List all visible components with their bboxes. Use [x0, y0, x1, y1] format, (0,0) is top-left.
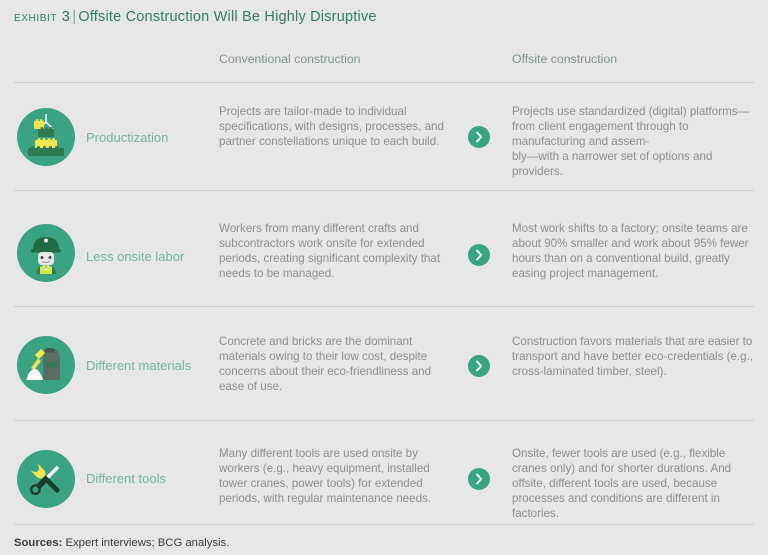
cement-bag-shovel-icon — [17, 336, 75, 394]
sources-note: Sources: Expert interviews; BCG analysis… — [14, 537, 229, 549]
row-label: Productization — [86, 130, 168, 145]
title-headline: Offsite Construction Will Be Highly Disr… — [78, 9, 376, 25]
chevron-right-icon[interactable] — [468, 355, 490, 377]
cell-offsite: Onsite, fewer tools are used (e.g., flex… — [512, 446, 760, 521]
sources-label: Sources: — [14, 537, 62, 549]
cell-conventional: Projects are tailor-made to individual s… — [219, 104, 459, 149]
chevron-right-icon[interactable] — [468, 244, 490, 266]
table-row: Different tools Many different tools are… — [0, 436, 768, 524]
cell-conventional: Concrete and bricks are the dominant mat… — [219, 334, 459, 394]
cell-offsite: Construction favors materials that are e… — [512, 334, 760, 379]
row-label: Less onsite labor — [86, 249, 184, 264]
page-title: Exhibit 3|Offsite Construction Will Be H… — [14, 9, 377, 25]
cell-conventional: Many different tools are used onsite by … — [219, 446, 459, 506]
divider-row-2 — [14, 306, 754, 307]
cell-offsite: Most work shifts to a factory; onsite te… — [512, 221, 760, 281]
column-header-conventional: Conventional construction — [219, 52, 361, 66]
table-row: Different materials Concrete and bricks … — [0, 322, 768, 420]
row-label: Different tools — [86, 471, 166, 486]
column-header-offsite: Offsite construction — [512, 52, 617, 66]
wrench-screwdriver-icon — [17, 450, 75, 508]
divider-top — [14, 82, 754, 83]
chevron-right-icon[interactable] — [468, 126, 490, 148]
divider-row-3 — [14, 420, 754, 421]
chevron-right-icon[interactable] — [468, 468, 490, 490]
exhibit-number: Exhibit 3 — [14, 9, 70, 25]
divider-row-1 — [14, 190, 754, 191]
lego-blocks-crane-icon — [17, 108, 75, 166]
divider-bottom — [14, 524, 754, 525]
cell-offsite: Projects use standardized (digital) plat… — [512, 104, 760, 179]
row-label: Different materials — [86, 358, 191, 373]
table-row: Less onsite labor Workers from many diff… — [0, 208, 768, 306]
table-row: Productization Projects are tailor-made … — [0, 92, 768, 190]
cell-conventional: Workers from many different crafts and s… — [219, 221, 459, 281]
sources-text: Expert interviews; BCG analysis. — [65, 537, 229, 549]
construction-worker-icon — [17, 224, 75, 282]
